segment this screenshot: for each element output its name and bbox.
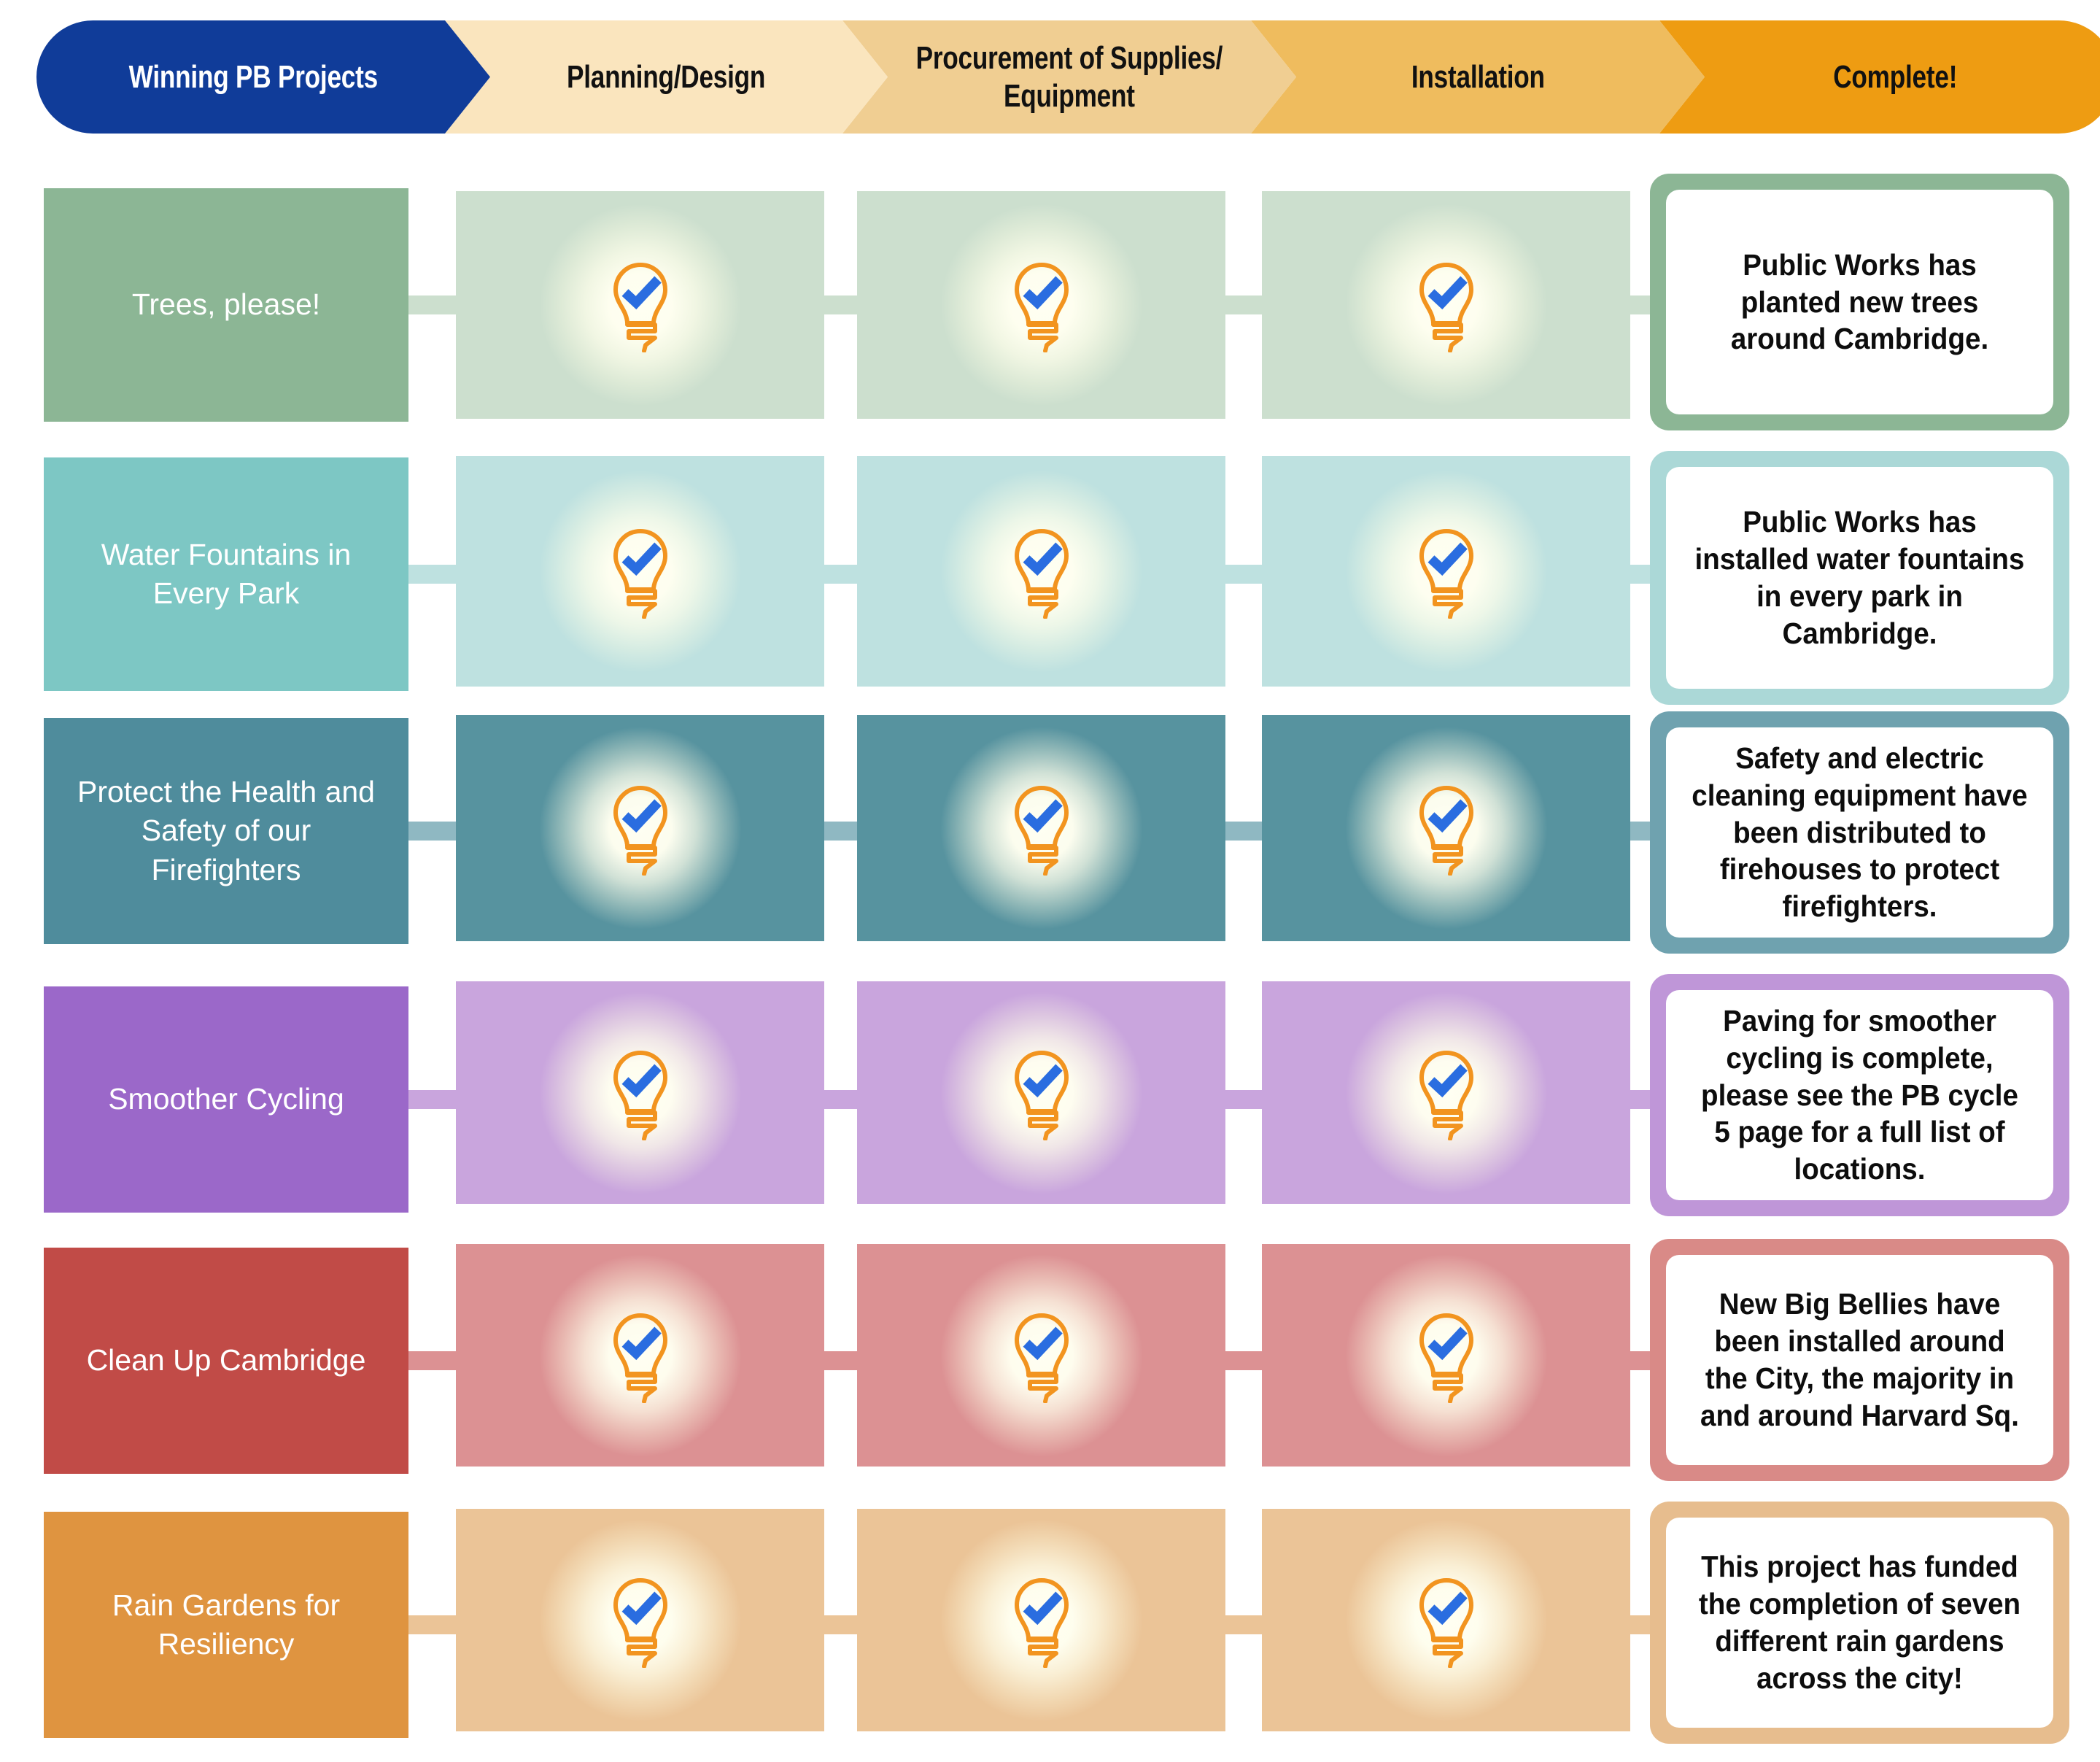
lightbulb-check-icon: [1406, 1046, 1487, 1140]
stage-cell-row5-col2[interactable]: [857, 1244, 1225, 1467]
connector-bar: [408, 565, 456, 584]
connector-bar: [1225, 1090, 1262, 1109]
project-label-3[interactable]: Protect the Health and Safety of our Fir…: [44, 718, 408, 944]
connector-bar: [408, 1351, 456, 1370]
completion-text: Paving for smoother cycling is complete,…: [1690, 1002, 2029, 1188]
completion-card-inner: Public Works has planted new trees aroun…: [1666, 190, 2053, 414]
stage-header-3[interactable]: Procurement of Supplies/ Equipment: [842, 20, 1296, 134]
completion-card-1[interactable]: Public Works has planted new trees aroun…: [1650, 174, 2069, 430]
stage-header-label: Procurement of Supplies/ Equipment: [916, 39, 1223, 115]
stage-header-1[interactable]: Winning PB Projects: [36, 20, 490, 134]
completion-card-inner: This project has funded the completion o…: [1666, 1518, 2053, 1728]
project-label-text: Trees, please!: [132, 285, 320, 324]
lightbulb-check-icon: [1001, 1046, 1082, 1140]
completion-card-inner: New Big Bellies have been installed arou…: [1666, 1255, 2053, 1465]
lightbulb-check-icon: [1406, 1573, 1487, 1668]
stage-cell-row6-col1[interactable]: [456, 1509, 824, 1731]
project-label-text: Smoother Cycling: [108, 1080, 344, 1118]
connector-bar: [408, 1615, 456, 1634]
connector-bar: [1630, 1615, 1650, 1634]
stage-cell-row1-col1[interactable]: [456, 191, 824, 419]
connector-bar: [824, 1351, 857, 1370]
project-label-2[interactable]: Water Fountains in Every Park: [44, 457, 408, 691]
lightbulb-check-icon: [1001, 258, 1082, 352]
completion-card-2[interactable]: Public Works has installed water fountai…: [1650, 451, 2069, 705]
stage-header-label: Planning/Design: [567, 58, 765, 96]
stage-cell-row4-col3[interactable]: [1262, 981, 1630, 1204]
project-label-1[interactable]: Trees, please!: [44, 188, 408, 422]
connector-bar: [1630, 822, 1650, 841]
lightbulb-check-icon: [600, 524, 681, 619]
lightbulb-check-icon: [600, 1308, 681, 1403]
stage-cell-row3-col1[interactable]: [456, 715, 824, 941]
connector-bar: [1630, 565, 1650, 584]
connector-bar: [824, 822, 857, 841]
lightbulb-check-icon: [1406, 1308, 1487, 1403]
lightbulb-check-icon: [600, 781, 681, 876]
lightbulb-check-icon: [1001, 1308, 1082, 1403]
completion-card-3[interactable]: Safety and electric cleaning equipment h…: [1650, 711, 2069, 954]
lightbulb-check-icon: [1001, 781, 1082, 876]
stage-cell-row2-col1[interactable]: [456, 456, 824, 687]
stage-cell-row5-col3[interactable]: [1262, 1244, 1630, 1467]
connector-bar: [1225, 565, 1262, 584]
lightbulb-check-icon: [1001, 524, 1082, 619]
stage-cell-row3-col3[interactable]: [1262, 715, 1630, 941]
completion-card-5[interactable]: New Big Bellies have been installed arou…: [1650, 1239, 2069, 1481]
stage-cell-row4-col1[interactable]: [456, 981, 824, 1204]
connector-bar: [1630, 295, 1650, 314]
lightbulb-check-icon: [1001, 1573, 1082, 1668]
completion-text: Public Works has installed water fountai…: [1690, 503, 2029, 652]
connector-bar: [824, 1615, 857, 1634]
completion-card-6[interactable]: This project has funded the completion o…: [1650, 1502, 2069, 1744]
stage-cell-row6-col2[interactable]: [857, 1509, 1225, 1731]
stage-cell-row1-col3[interactable]: [1262, 191, 1630, 419]
stage-header-label: Winning PB Projects: [128, 58, 377, 96]
completion-card-inner: Paving for smoother cycling is complete,…: [1666, 990, 2053, 1200]
connector-bar: [408, 1090, 456, 1109]
lightbulb-check-icon: [1406, 258, 1487, 352]
pb-project-progress-diagram: Winning PB ProjectsPlanning/DesignProcur…: [0, 0, 2100, 1762]
completion-text: Public Works has planted new trees aroun…: [1690, 247, 2029, 358]
connector-bar: [824, 565, 857, 584]
project-label-4[interactable]: Smoother Cycling: [44, 986, 408, 1213]
project-label-5[interactable]: Clean Up Cambridge: [44, 1248, 408, 1474]
stage-header-2[interactable]: Planning/Design: [445, 20, 888, 134]
project-label-text: Rain Gardens for Resiliency: [112, 1586, 340, 1664]
connector-bar: [824, 295, 857, 314]
connector-bar: [408, 822, 456, 841]
stage-header-5[interactable]: Complete!: [1659, 20, 2100, 134]
stage-cell-row2-col2[interactable]: [857, 456, 1225, 687]
connector-bar: [824, 1090, 857, 1109]
completion-card-inner: Public Works has installed water fountai…: [1666, 467, 2053, 689]
connector-bar: [1225, 1615, 1262, 1634]
lightbulb-check-icon: [600, 1046, 681, 1140]
stage-cell-row1-col2[interactable]: [857, 191, 1225, 419]
lightbulb-check-icon: [1406, 524, 1487, 619]
connector-bar: [1630, 1090, 1650, 1109]
completion-card-4[interactable]: Paving for smoother cycling is complete,…: [1650, 974, 2069, 1216]
completion-text: Safety and electric cleaning equipment h…: [1690, 740, 2029, 925]
stage-header-4[interactable]: Installation: [1251, 20, 1705, 134]
lightbulb-check-icon: [600, 1573, 681, 1668]
stage-header-banner: Winning PB ProjectsPlanning/DesignProcur…: [36, 20, 2070, 134]
connector-bar: [1630, 1351, 1650, 1370]
stage-header-label: Installation: [1411, 58, 1545, 96]
stage-cell-row5-col1[interactable]: [456, 1244, 824, 1467]
project-label-text: Protect the Health and Safety of our Fir…: [77, 773, 375, 889]
project-label-text: Water Fountains in Every Park: [101, 536, 352, 614]
completion-text: This project has funded the completion o…: [1690, 1548, 2029, 1696]
connector-bar: [1225, 295, 1262, 314]
connector-bar: [1225, 822, 1262, 841]
completion-card-inner: Safety and electric cleaning equipment h…: [1666, 727, 2053, 938]
stage-cell-row3-col2[interactable]: [857, 715, 1225, 941]
connector-bar: [1225, 1351, 1262, 1370]
stage-header-label: Complete!: [1833, 58, 1957, 96]
connector-bar: [408, 295, 456, 314]
project-label-text: Clean Up Cambridge: [87, 1341, 366, 1380]
project-label-6[interactable]: Rain Gardens for Resiliency: [44, 1512, 408, 1738]
lightbulb-check-icon: [1406, 781, 1487, 876]
stage-cell-row4-col2[interactable]: [857, 981, 1225, 1204]
completion-text: New Big Bellies have been installed arou…: [1690, 1286, 2029, 1434]
lightbulb-check-icon: [600, 258, 681, 352]
stage-cell-row6-col3[interactable]: [1262, 1509, 1630, 1731]
stage-cell-row2-col3[interactable]: [1262, 456, 1630, 687]
